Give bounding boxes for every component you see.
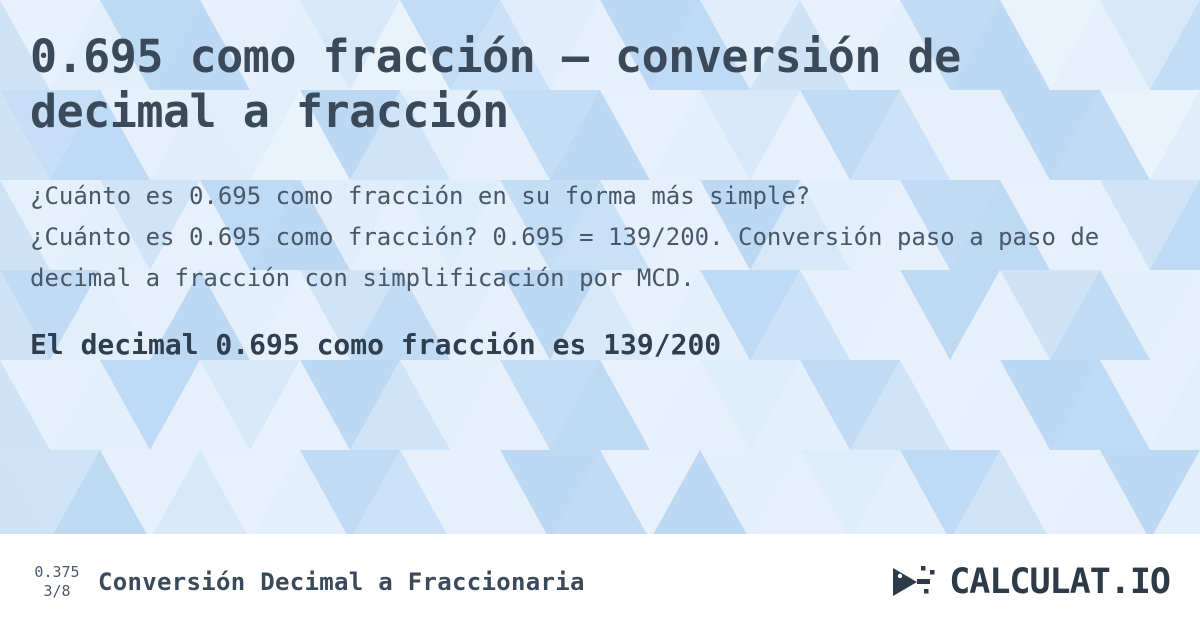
social-card: 0.695 como fracción – conversión de deci…: [0, 0, 1200, 630]
page-title: 0.695 como fracción – conversión de deci…: [30, 30, 1170, 140]
description-line-1: ¿Cuánto es 0.695 como fracción en su for…: [30, 176, 1170, 217]
brand-name: CALCULAT.IO: [949, 562, 1170, 602]
page-description: ¿Cuánto es 0.695 como fracción en su for…: [30, 176, 1170, 300]
footer-title: Conversión Decimal a Fraccionaria: [98, 568, 585, 596]
fraction-fraction-value: 3/8: [43, 582, 70, 601]
description-line-2: ¿Cuánto es 0.695 como fracción? 0.695 = …: [30, 217, 1170, 300]
answer-statement: El decimal 0.695 como fracción es 139/20…: [30, 328, 1170, 361]
fraction-decimal-value: 0.375: [34, 563, 79, 582]
calculator-bird-icon: [891, 562, 943, 602]
card-footer: 0.375 3/8 Conversión Decimal a Fracciona…: [0, 534, 1200, 630]
fraction-example-logo: 0.375 3/8: [30, 563, 84, 601]
brand-logo[interactable]: CALCULAT.IO: [891, 562, 1170, 602]
